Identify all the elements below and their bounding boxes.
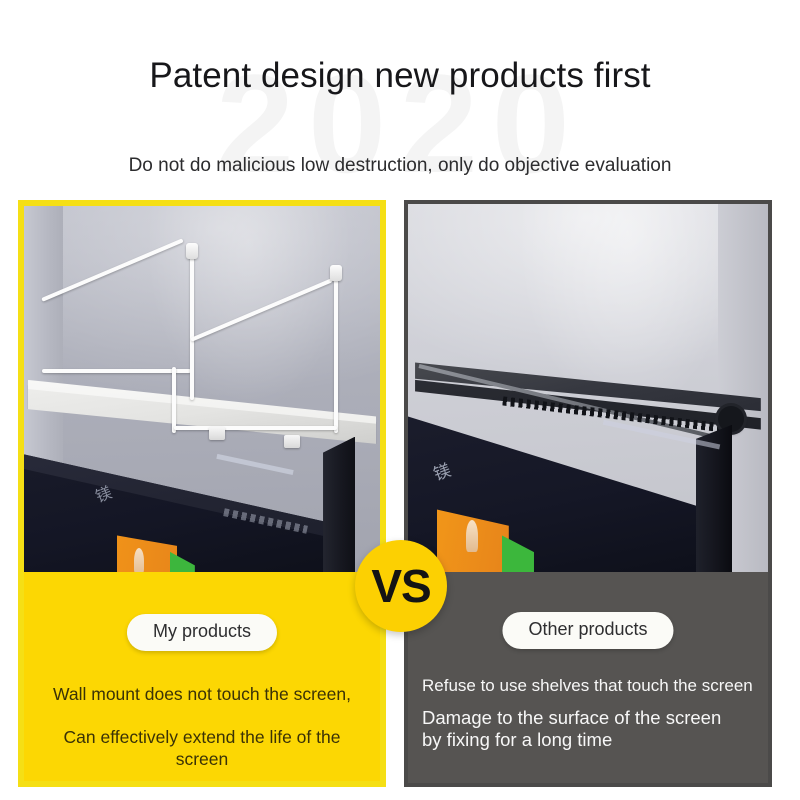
page-subtitle: Do not do malicious low destruction, onl…: [0, 155, 800, 177]
shelf-clip-left: [209, 427, 225, 440]
vs-badge: VS: [355, 540, 447, 632]
bracket-arm-horizontal-left: [42, 369, 192, 373]
television-screen-figure: [134, 548, 144, 572]
caption-line: Can effectively extend the life of the s…: [40, 727, 364, 770]
caption-line: Refuse to use shelves that touch the scr…: [422, 676, 754, 697]
product-photo-other-products: 镁: [408, 204, 768, 572]
television-screen-figure: [466, 520, 478, 552]
header-section: 2020 Patent design new products first Do…: [0, 0, 800, 196]
caption-line: Damage to the surface of the screen: [422, 707, 754, 730]
product-photo-my-products: 镁: [24, 206, 380, 572]
wall-bolt-right: [330, 265, 342, 281]
caption-line: Wall mount does not touch the screen,: [40, 684, 364, 705]
caption-line: by fixing for a long time: [422, 729, 754, 752]
label-pill-other-products: Other products: [502, 612, 673, 649]
bracket-arm-vertical-mid: [172, 367, 176, 433]
comparison-section: 镁 My products Wall mount does not touch …: [0, 196, 800, 800]
bracket-arm-horizontal-front: [174, 426, 338, 430]
vs-badge-label: VS: [371, 563, 430, 609]
shelf-clip-right: [284, 435, 300, 448]
caption-block-other-products: Other products Refuse to use shelves tha…: [408, 572, 768, 783]
caption-lines-other-products: Refuse to use shelves that touch the scr…: [408, 676, 768, 752]
panel-my-products: 镁 My products Wall mount does not touch …: [18, 200, 386, 787]
wall-bolt-left: [186, 243, 198, 259]
caption-block-my-products: My products Wall mount does not touch th…: [24, 572, 380, 785]
caption-lines-my-products: Wall mount does not touch the screen, Ca…: [24, 684, 380, 770]
page-title: Patent design new products first: [0, 56, 800, 96]
bracket-arm-vertical-right: [334, 276, 338, 433]
television-side-panel: [323, 437, 355, 572]
label-pill-my-products: My products: [127, 614, 277, 651]
bracket-arm-vertical-left: [190, 254, 194, 400]
panel-other-products: 镁 Other products Refuse to use shelves t…: [404, 200, 772, 787]
